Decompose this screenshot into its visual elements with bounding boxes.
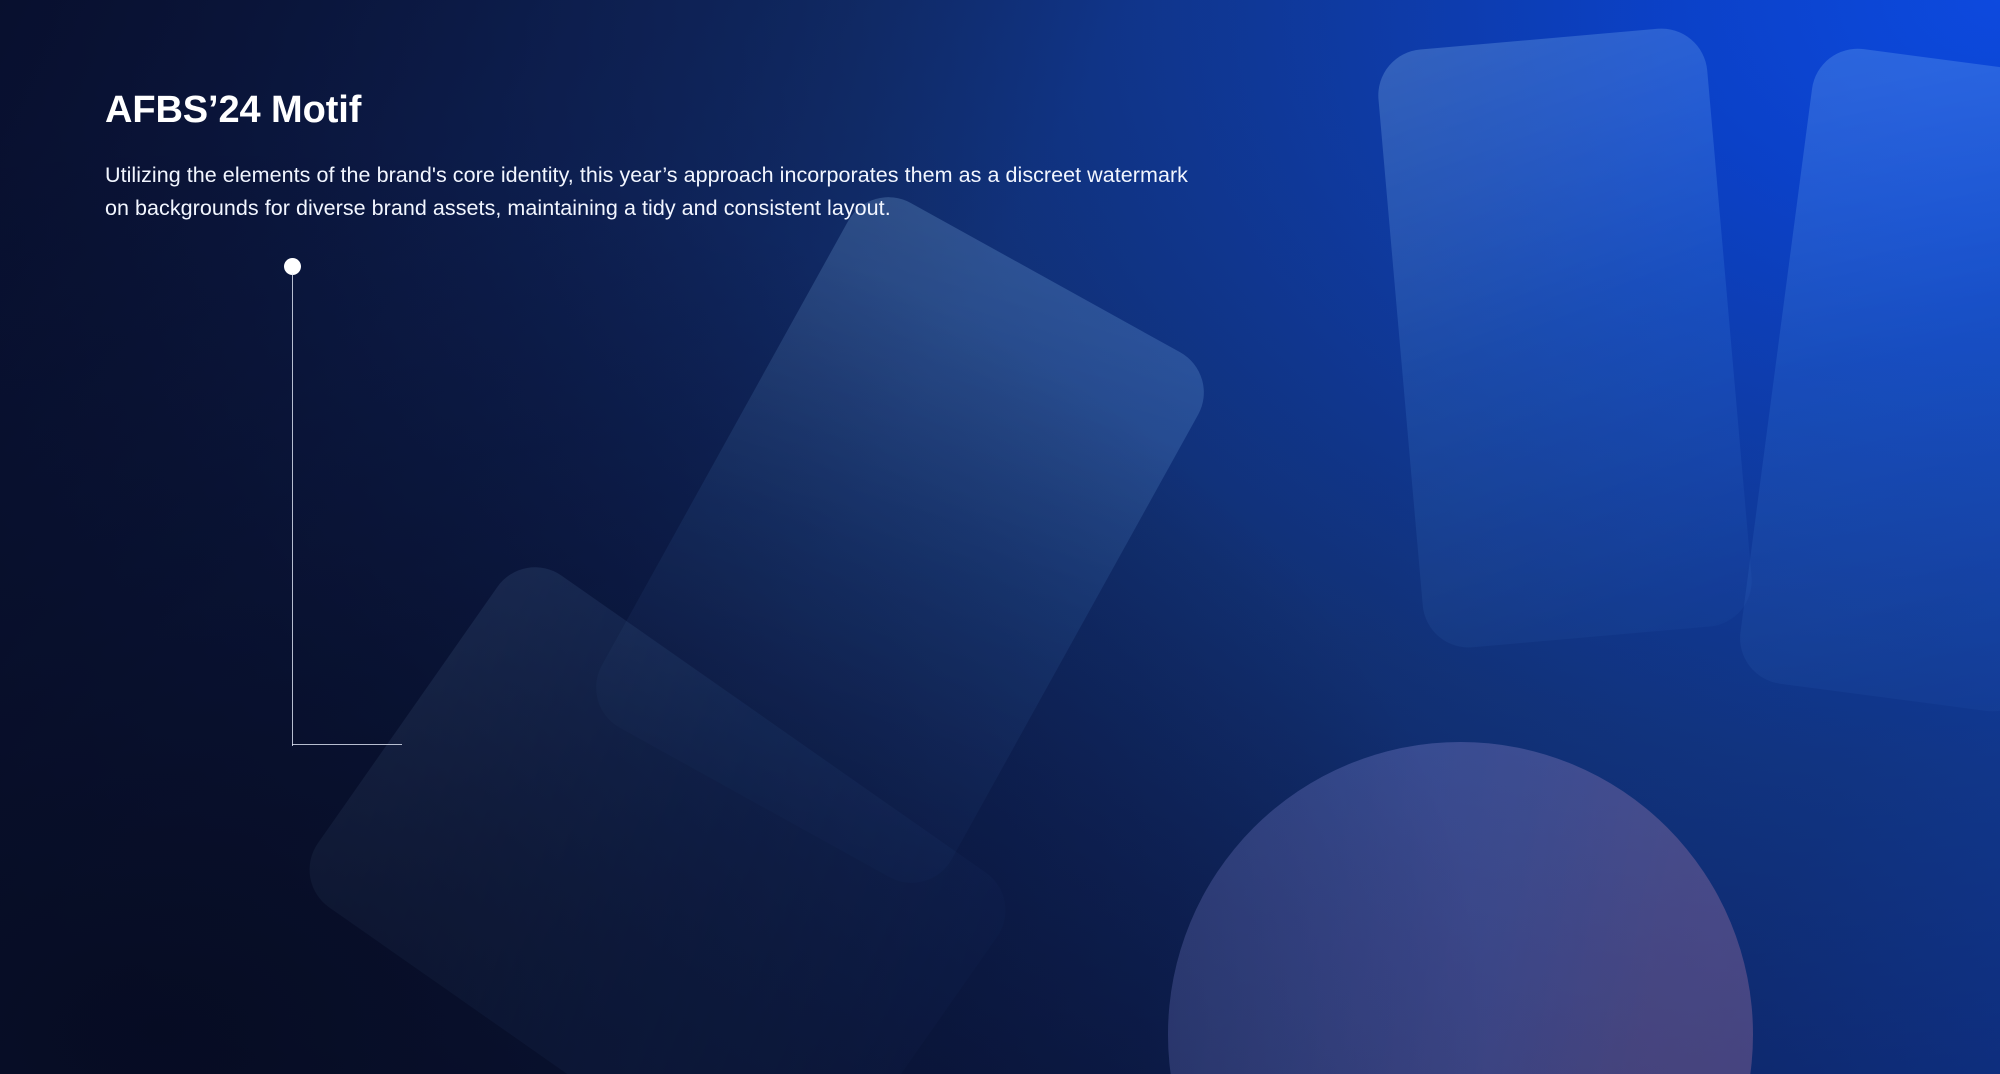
slide-text-block: AFBS’24 Motif Utilizing the elements of … <box>105 88 1865 224</box>
description-line-1: Utilizing the elements of the brand's co… <box>105 159 1845 192</box>
motif-slide: AFBS’24 Motif Utilizing the elements of … <box>0 0 2000 1074</box>
page-title: AFBS’24 Motif <box>105 88 1865 133</box>
slide-description: Utilizing the elements of the brand's co… <box>105 159 1845 224</box>
description-line-2: on backgrounds for diverse brand assets,… <box>105 192 1845 225</box>
